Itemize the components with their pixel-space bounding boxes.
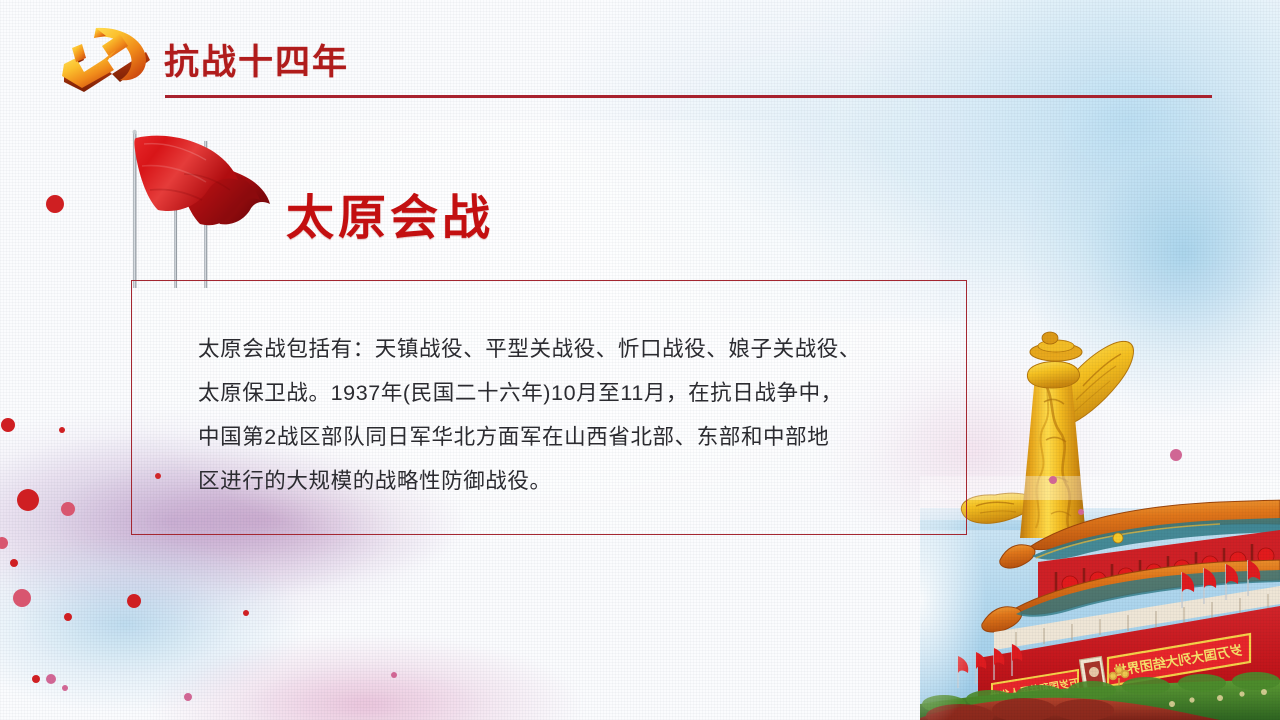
three-red-flags-icon	[110, 128, 300, 288]
content-line: 太原会战包括有：天镇战役、平型关战役、忻口战役、娘子关战役、	[198, 327, 928, 371]
slide-canvas: 岁万国大列大结团界世 万岁国和共民人华中	[0, 0, 1280, 720]
content-box: 太原会战包括有：天镇战役、平型关战役、忻口战役、娘子关战役、 太原保卫战。193…	[131, 280, 967, 535]
content-line: 区进行的大规模的战略性防御战役。	[198, 459, 928, 503]
section-title: 太原会战	[286, 178, 494, 248]
content-paragraph: 太原会战包括有：天镇战役、平型关战役、忻口战役、娘子关战役、 太原保卫战。193…	[198, 327, 928, 503]
content-line: 中国第2战区部队同日军华北方面军在山西省北部、东部和中部地	[198, 415, 928, 459]
page-title: 抗战十四年	[164, 34, 349, 85]
content-line: 太原保卫战。1937年(民国二十六年)10月至11月，在抗日战争中，	[198, 371, 928, 415]
party-emblem-hammer-sickle-icon	[50, 22, 160, 98]
slide-header: 抗战十四年	[0, 0, 1280, 108]
header-divider	[165, 95, 1212, 98]
